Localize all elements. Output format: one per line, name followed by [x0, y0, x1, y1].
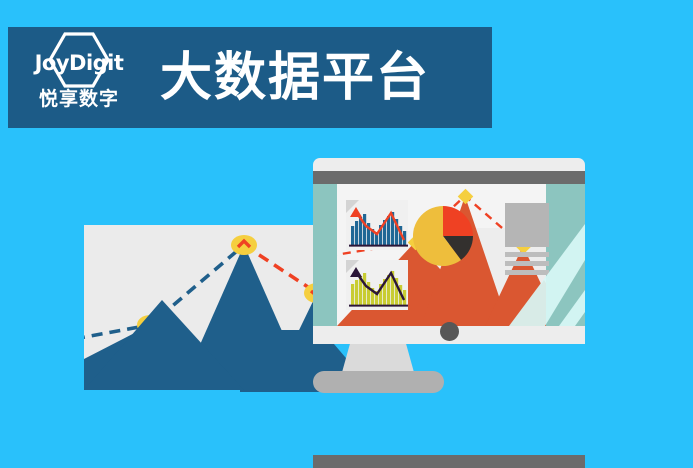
page-title: 大数据平台 [160, 52, 430, 104]
arrow-up-icon [350, 267, 362, 277]
screen-accent-left [313, 184, 337, 326]
placeholder-text-line [505, 252, 549, 257]
monitor [313, 158, 585, 344]
header-banner: JoyDigit 悦享数字 大数据平台 [8, 27, 492, 128]
logo: JoyDigit 悦享数字 [20, 34, 138, 122]
placeholder-image-block [505, 203, 549, 247]
monitor-bottom-bezel [313, 455, 585, 468]
data-marker [231, 235, 257, 255]
bar-chart-olive [346, 260, 408, 310]
monitor-top-bezel [313, 171, 585, 184]
placeholder-text-line [505, 261, 549, 266]
card-bar-chart-blue[interactable] [346, 200, 408, 250]
logo-wordmark: JoyDigit [35, 51, 124, 75]
illustration-canvas: JoyDigit 悦享数字 大数据平台 [0, 0, 693, 431]
screen-accent-right [546, 184, 585, 326]
power-button-icon[interactable] [440, 322, 459, 341]
card-bar-chart-olive[interactable] [346, 260, 408, 310]
bar-chart-blue [346, 200, 408, 250]
monitor-base [313, 371, 444, 393]
arrow-up-icon [350, 207, 362, 217]
pie-chart [411, 204, 475, 268]
pie-slice-red [443, 206, 473, 236]
monitor-screen[interactable] [313, 184, 585, 326]
foreground-mountain-left [84, 300, 244, 390]
logo-subtitle: 悦享数字 [39, 84, 119, 111]
placeholder-text-line [505, 270, 549, 275]
